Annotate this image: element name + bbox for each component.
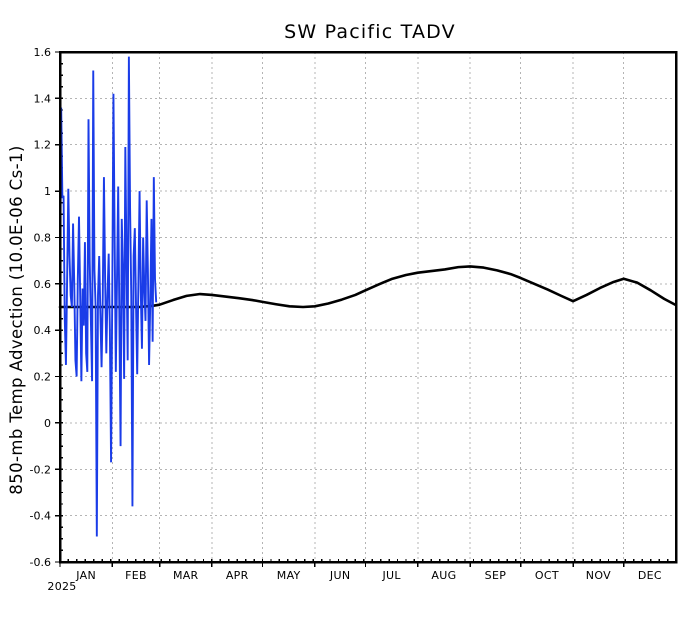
y-tick-label: 1.6 (34, 46, 52, 59)
y-tick-label: 0.8 (34, 231, 52, 244)
x-axis-month-label: AUG (431, 569, 456, 582)
y-tick-label: -0.6 (30, 556, 51, 569)
x-axis-month-label: SEP (485, 569, 507, 582)
x-axis-month-label: APR (226, 569, 249, 582)
x-axis-month-label: FEB (125, 569, 147, 582)
x-axis-month-label: DEC (638, 569, 662, 582)
chart-container: SW Pacific TADV 850-mb Temp Advection (1… (0, 0, 690, 618)
y-tick-label: 1.2 (34, 139, 52, 152)
x-axis-month-label: MAY (277, 569, 301, 582)
tadv-chart-svg: SW Pacific TADV 850-mb Temp Advection (1… (0, 0, 690, 618)
x-axis-month-label: JUL (381, 569, 401, 582)
y-tick-label: -0.4 (30, 510, 51, 523)
x-axis-month-label: NOV (586, 569, 611, 582)
x-axis-month-label: JAN (75, 569, 96, 582)
year-label: 2025 (47, 580, 76, 593)
y-tick-label: 0.4 (34, 324, 52, 337)
x-axis-month-label: JUN (329, 569, 350, 582)
y-tick-label: 0 (44, 417, 51, 430)
y-axis-title: 850-mb Temp Advection (10.0E-06 Cs-1) (7, 145, 26, 494)
y-tick-label: 1.4 (34, 92, 52, 105)
x-axis-month-label: MAR (173, 569, 199, 582)
y-tick-label: 0.6 (34, 278, 52, 291)
chart-title: SW Pacific TADV (284, 21, 456, 43)
y-tick-label: 0.2 (34, 371, 52, 384)
y-tick-label: 1 (44, 185, 51, 198)
y-tick-label: -0.2 (30, 463, 51, 476)
x-axis-month-label: OCT (535, 569, 559, 582)
